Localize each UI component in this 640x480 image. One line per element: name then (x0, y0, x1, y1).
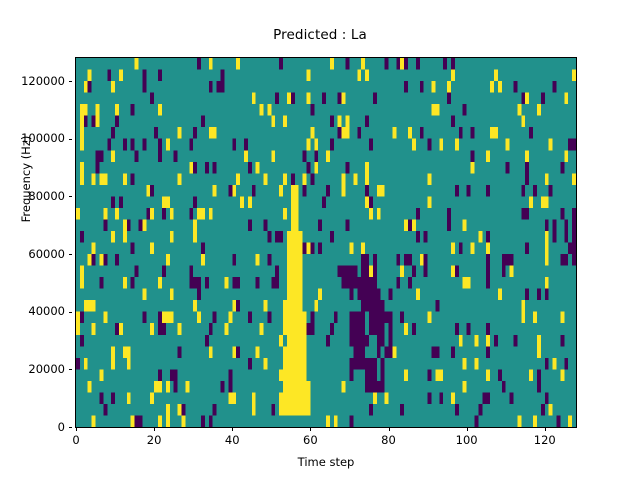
x-tick-mark (76, 427, 77, 431)
figure-canvas: Predicted : La 0200004000060000800001000… (0, 0, 640, 480)
x-tick-label: 40 (212, 433, 252, 447)
chart-title: Predicted : La (0, 27, 640, 43)
y-tick-label: 60000 (28, 247, 65, 261)
x-tick-mark (389, 427, 390, 431)
x-tick-label: 0 (56, 433, 96, 447)
y-tick-label: 20000 (28, 362, 65, 376)
x-tick-mark (310, 427, 311, 431)
y-tick-label: 40000 (28, 304, 65, 318)
y-axis-label: Frequency (Hz) (19, 109, 33, 249)
heatmap-image (76, 58, 576, 427)
y-tick-mark (69, 254, 73, 255)
x-tick-mark (467, 427, 468, 431)
y-tick-label: 80000 (28, 189, 65, 203)
y-tick-mark (69, 81, 73, 82)
x-tick-mark (232, 427, 233, 431)
x-tick-label: 60 (290, 433, 330, 447)
x-tick-label: 20 (134, 433, 174, 447)
heatmap-axes (75, 57, 577, 428)
y-tick-label: 120000 (21, 74, 65, 88)
y-tick-mark (69, 139, 73, 140)
y-tick-mark (69, 196, 73, 197)
x-tick-mark (154, 427, 155, 431)
y-tick-mark (69, 427, 73, 428)
x-tick-mark (545, 427, 546, 431)
x-axis-label: Time step (76, 455, 576, 469)
y-tick-mark (69, 369, 73, 370)
x-tick-label: 100 (447, 433, 487, 447)
y-tick-mark (69, 312, 73, 313)
x-tick-label: 120 (525, 433, 565, 447)
x-tick-label: 80 (369, 433, 409, 447)
y-tick-label: 0 (58, 420, 65, 434)
